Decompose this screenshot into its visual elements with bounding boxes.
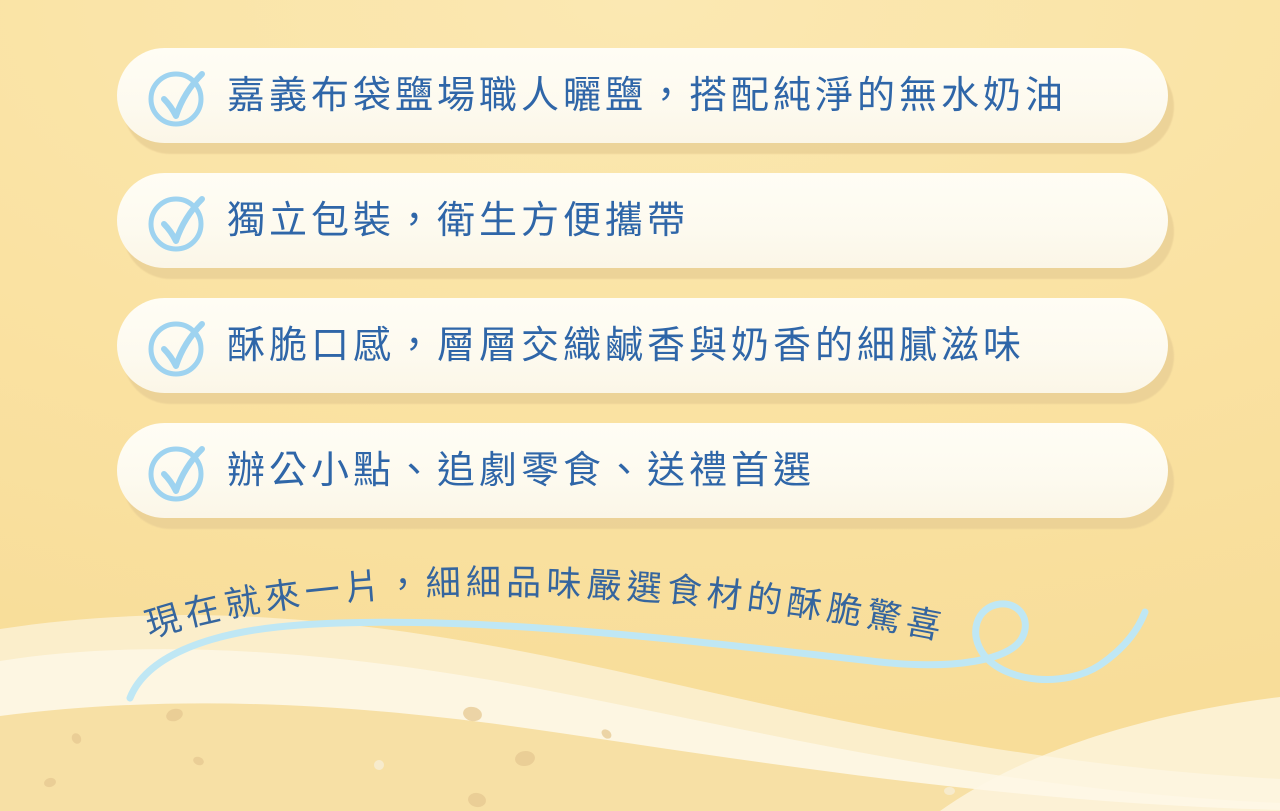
feature-item-3[interactable]: 酥脆口感，層層交織鹹香與奶香的細膩滋味 <box>117 298 1168 393</box>
feature-list: 嘉義布袋鹽場職人曬鹽，搭配純淨的無水奶油 獨立包裝，衛生方便攜帶 酥脆口感，層層 <box>117 48 1168 548</box>
check-circle-icon <box>143 311 213 381</box>
check-circle-icon <box>143 61 213 131</box>
feature-card[interactable]: 辦公小點、追劇零食、送禮首選 <box>117 423 1168 518</box>
feature-item-1[interactable]: 嘉義布袋鹽場職人曬鹽，搭配純淨的無水奶油 <box>117 48 1168 143</box>
feature-item-2[interactable]: 獨立包裝，衛生方便攜帶 <box>117 173 1168 268</box>
tagline-text: 現在就來一片，細細品味嚴選食材的酥脆驚喜 <box>141 563 949 647</box>
feature-card[interactable]: 獨立包裝，衛生方便攜帶 <box>117 173 1168 268</box>
feature-label: 獨立包裝，衛生方便攜帶 <box>227 202 689 240</box>
tagline-group: 現在就來一片，細細品味嚴選食材的酥脆驚喜 <box>0 520 1280 750</box>
check-circle-icon <box>143 186 213 256</box>
feature-label: 酥脆口感，層層交織鹹香與奶香的細膩滋味 <box>227 327 1025 365</box>
feature-label: 辦公小點、追劇零食、送禮首選 <box>227 452 815 490</box>
tagline-textpath: 現在就來一片，細細品味嚴選食材的酥脆驚喜 <box>141 563 949 647</box>
feature-card[interactable]: 酥脆口感，層層交織鹹香與奶香的細膩滋味 <box>117 298 1168 393</box>
check-circle-icon <box>143 436 213 506</box>
speck <box>944 787 955 795</box>
feature-card[interactable]: 嘉義布袋鹽場職人曬鹽，搭配純淨的無水奶油 <box>117 48 1168 143</box>
feature-label: 嘉義布袋鹽場職人曬鹽，搭配純淨的無水奶油 <box>227 77 1067 115</box>
speck <box>374 760 384 770</box>
feature-banner: 嘉義布袋鹽場職人曬鹽，搭配純淨的無水奶油 獨立包裝，衛生方便攜帶 酥脆口感，層層 <box>0 0 1280 811</box>
feature-item-4[interactable]: 辦公小點、追劇零食、送禮首選 <box>117 423 1168 518</box>
ribbon-swirl-icon <box>130 604 1145 698</box>
